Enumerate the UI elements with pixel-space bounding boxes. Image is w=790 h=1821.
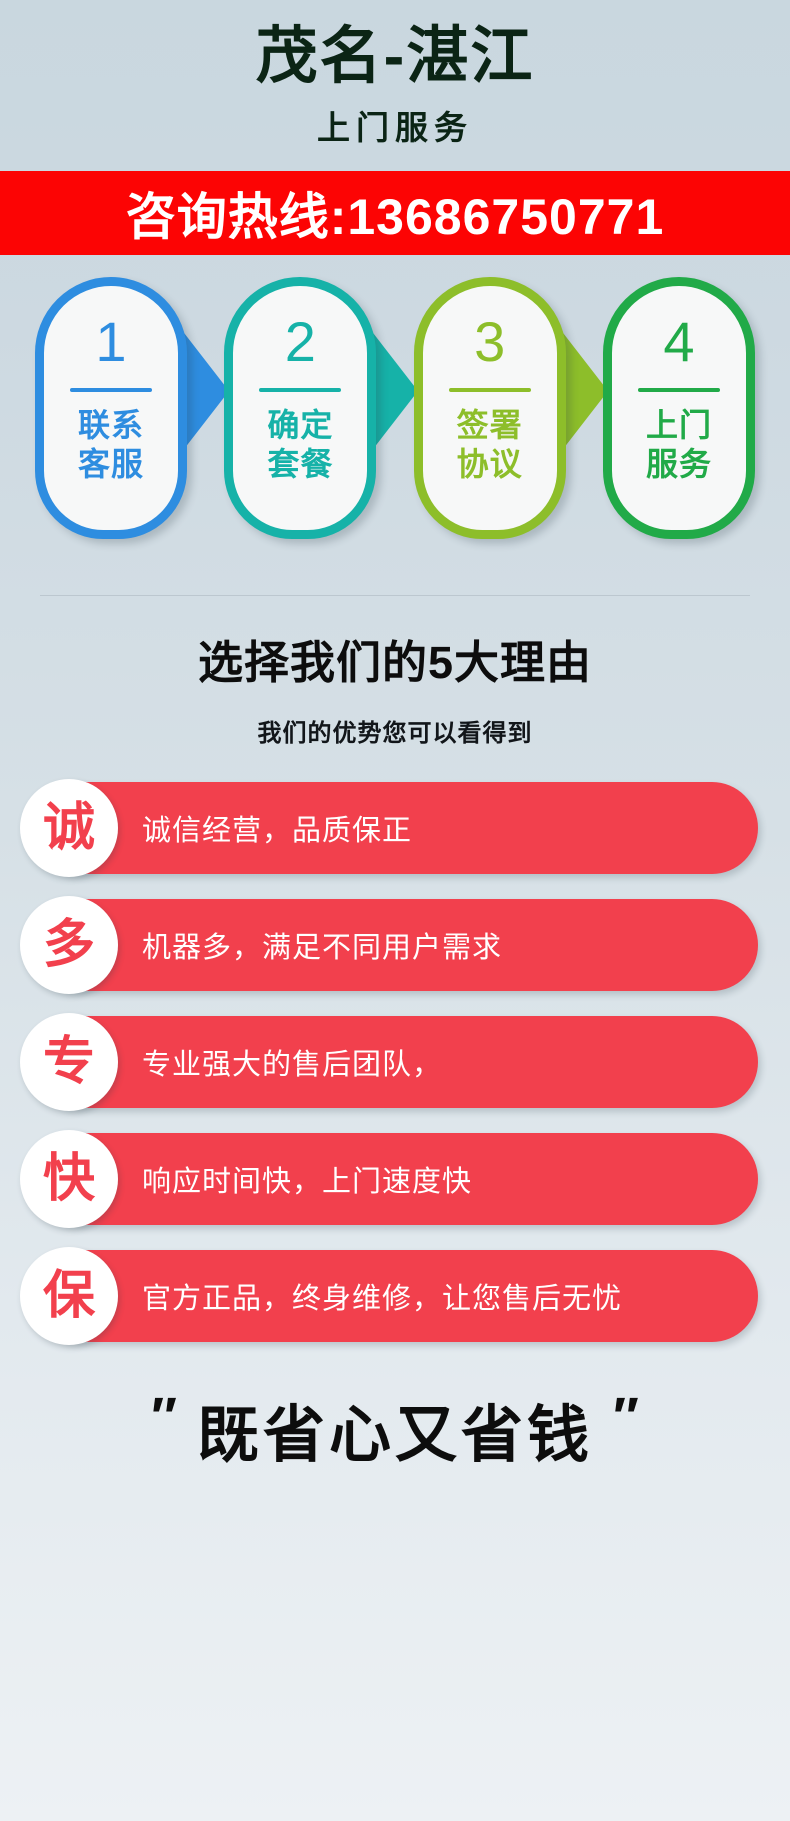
process-steps-section: 1 联系 客服 2 确定 套餐 3 [0,277,790,577]
step-label-line1: 上门 [646,406,712,445]
page-title: 茂名-湛江 [0,22,790,91]
step-label-line1: 联系 [78,406,144,445]
hotline-bar[interactable]: 咨询热线:13686750771 [0,171,790,255]
reason-text: 机器多，满足不同用户需求 [142,899,502,991]
arrow-right-icon [560,329,608,453]
reason-text: 诚信经营，品质保正 [142,782,412,874]
step-label: 确定 套餐 [267,406,333,484]
reason-badge: 多 [20,896,118,994]
step-label-line2: 客服 [78,445,144,484]
step-label: 签署 协议 [457,406,523,484]
section-title: 选择我们的5大理由 [0,626,790,691]
step-divider [638,388,720,392]
step-label-line1: 确定 [267,406,333,445]
reason-badge: 保 [20,1247,118,1345]
slogan-text: 既省心又省钱 [197,1384,593,1474]
step-capsule: 2 确定 套餐 [224,277,376,539]
step-label: 联系 客服 [78,406,144,484]
open-quote-icon: ″ [151,1401,177,1433]
step-label-line2: 套餐 [267,445,333,484]
step-number: 1 [95,314,126,370]
hotline-text: 咨询热线:13686750771 [126,177,665,249]
process-step-1[interactable]: 1 联系 客服 [35,277,187,539]
process-step-3[interactable]: 3 签署 协议 [414,277,566,539]
step-label-line2: 协议 [457,445,523,484]
step-label-line2: 服务 [646,445,712,484]
page-subtitle: 上门服务 [0,101,790,149]
step-label-line1: 签署 [457,406,523,445]
process-step-2[interactable]: 2 确定 套餐 [224,277,376,539]
reason-text: 官方正品，终身维修，让您售后无忧 [142,1250,622,1342]
reason-text: 专业强大的售后团队， [142,1016,442,1108]
reason-badge-char: 保 [43,1270,95,1322]
step-divider [70,388,152,392]
list-item[interactable]: 诚 诚信经营，品质保正 [20,782,758,874]
reason-text: 响应时间快，上门速度快 [142,1133,472,1225]
step-number: 2 [285,314,316,370]
arrow-right-icon [370,329,418,453]
reason-badge: 专 [20,1013,118,1111]
step-label: 上门 服务 [646,406,712,484]
step-number: 3 [474,314,505,370]
reasons-list: 诚 诚信经营，品质保正 多 机器多，满足不同用户需求 专 专业强大的售后团队， … [0,782,790,1342]
reasons-heading-block: 选择我们的5大理由 我们的优势您可以看得到 [0,626,790,748]
step-divider [449,388,531,392]
close-quote-icon: ″ [613,1401,639,1433]
hero-section: 茂名-湛江 上门服务 [0,0,790,149]
step-divider [259,388,341,392]
reason-badge-char: 诚 [43,802,95,854]
list-item[interactable]: 专 专业强大的售后团队， [20,1016,758,1108]
slogan-block: ″ 既省心又省钱 ″ [0,1384,790,1474]
reason-badge-char: 多 [43,919,95,971]
list-item[interactable]: 快 响应时间快，上门速度快 [20,1133,758,1225]
reason-badge-char: 快 [43,1153,95,1205]
step-capsule: 1 联系 客服 [35,277,187,539]
process-steps-row: 1 联系 客服 2 确定 套餐 3 [35,277,755,549]
list-item[interactable]: 多 机器多，满足不同用户需求 [20,899,758,991]
reason-badge-char: 专 [43,1036,95,1088]
step-capsule: 4 上门 服务 [603,277,755,539]
step-number: 4 [663,314,694,370]
process-step-4[interactable]: 4 上门 服务 [603,277,755,539]
step-capsule: 3 签署 协议 [414,277,566,539]
reason-badge: 诚 [20,779,118,877]
list-item[interactable]: 保 官方正品，终身维修，让您售后无忧 [20,1250,758,1342]
reason-badge: 快 [20,1130,118,1228]
section-divider [40,595,750,596]
section-subtitle: 我们的优势您可以看得到 [0,713,790,748]
arrow-right-icon [181,329,229,453]
